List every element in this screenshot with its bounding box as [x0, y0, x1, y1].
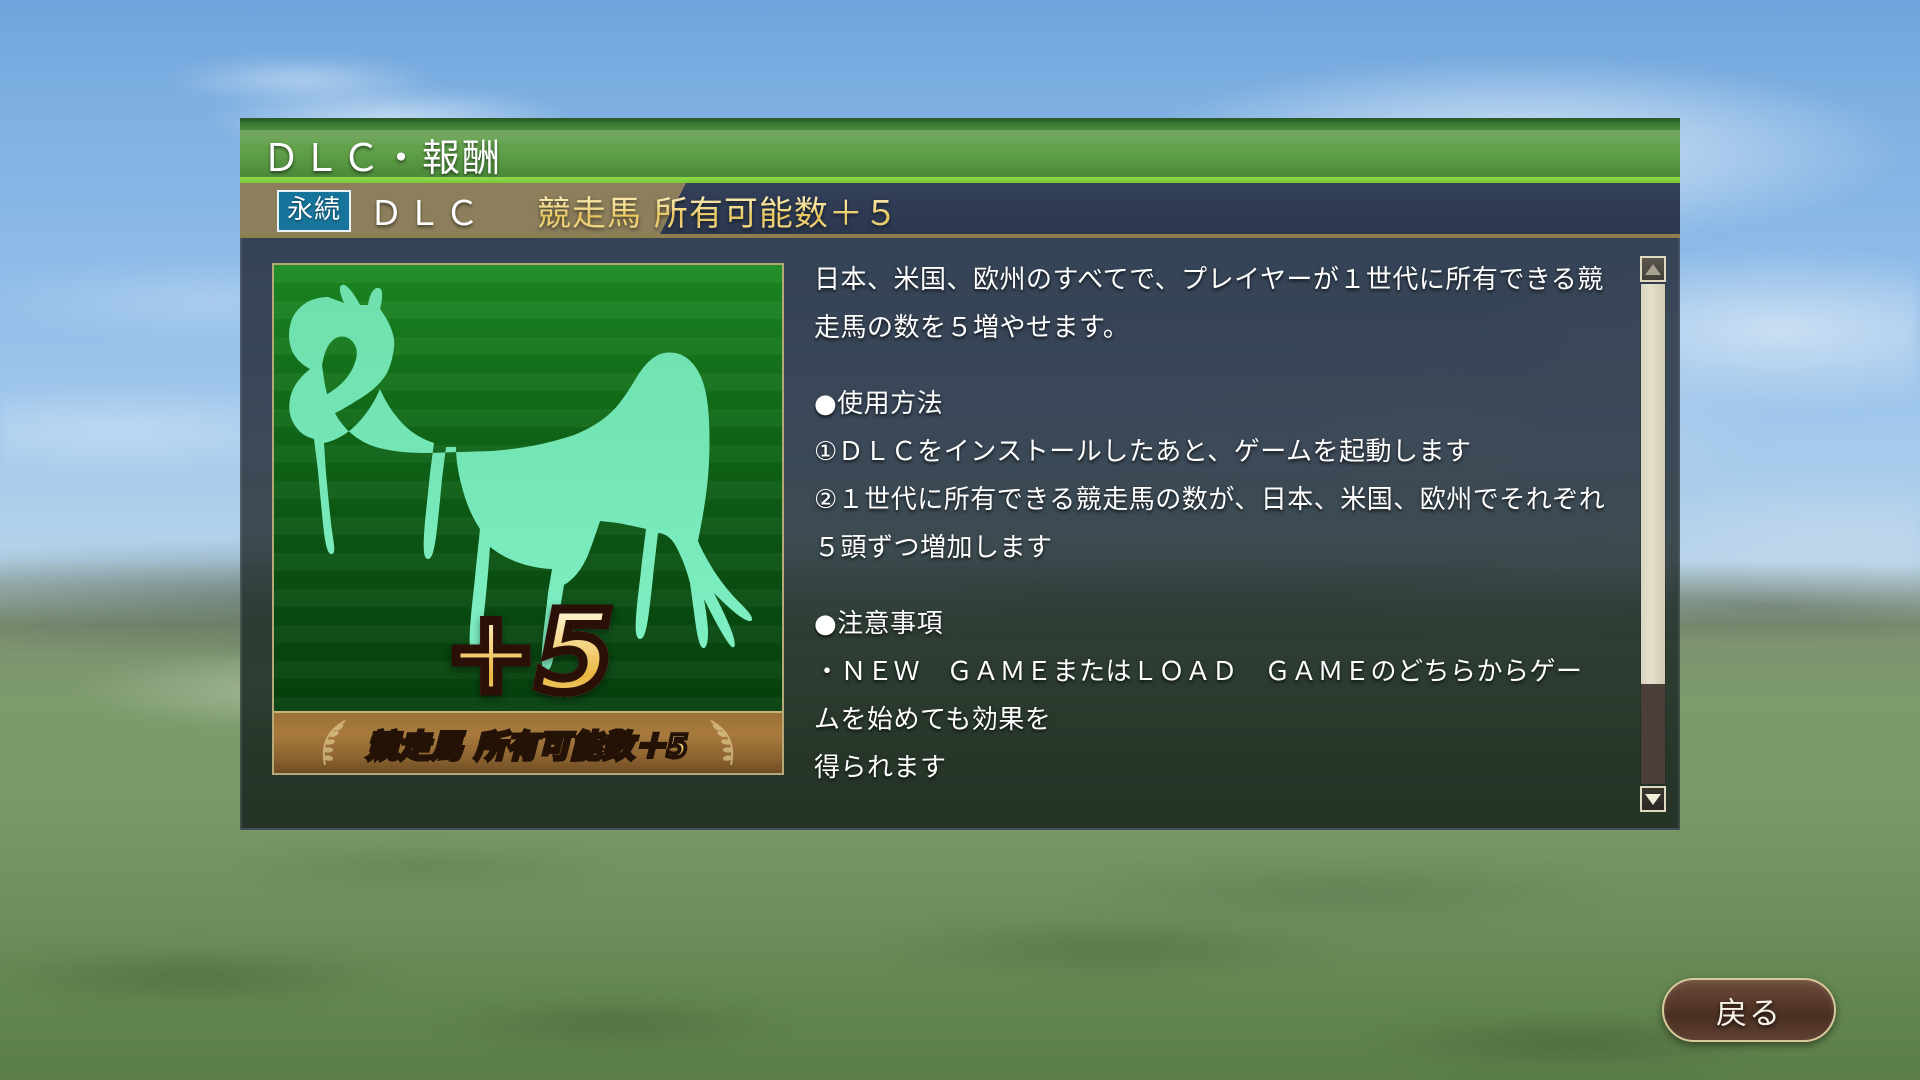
panel-header: ＤＬＣ・報酬 — [240, 118, 1680, 183]
dlc-detail-panel: ＤＬＣ・報酬 永続 ＤＬＣ 競走馬 所有可能数＋５ — [240, 118, 1680, 830]
description-line: ②１世代に所有できる競走馬の数が、日本、米国、欧州でそれぞれ — [814, 476, 1606, 524]
description-line: ・ＮＥＷ ＧＡＭＥまたはＬＯＡＤ ＧＡＭＥのどちらからゲームを始めても効果を — [814, 648, 1606, 744]
description-heading-notes: ●注意事項 — [814, 600, 1606, 648]
triangle-down-icon — [1645, 794, 1661, 805]
description-line: 走馬の数を５増やせます。 — [814, 304, 1606, 352]
scrollbar-thumb[interactable] — [1641, 284, 1665, 684]
panel-body: +5 競走馬 所有可能数＋5 — [240, 238, 1680, 830]
description-heading-usage: ●使用方法 — [814, 380, 1606, 428]
laurel-right-icon — [705, 719, 741, 767]
artwork-caption-band: 競走馬 所有可能数＋5 — [274, 711, 782, 773]
scrollbar-track[interactable] — [1641, 284, 1665, 784]
triangle-up-icon — [1645, 264, 1661, 275]
scroll-down-button[interactable] — [1640, 786, 1666, 812]
plus-five-overlay: +5 — [444, 597, 612, 709]
description-line: 日本、米国、欧州のすべてで、プレイヤーが１世代に所有できる競 — [814, 256, 1606, 304]
item-artwork-card: +5 競走馬 所有可能数＋5 — [272, 263, 784, 775]
item-subheader: 永続 ＤＬＣ 競走馬 所有可能数＋５ — [240, 183, 1680, 238]
description-spacer — [814, 572, 1606, 600]
item-description: 日本、米国、欧州のすべてで、プレイヤーが１世代に所有できる競 走馬の数を５増やせ… — [814, 256, 1654, 812]
artwork-image: +5 — [274, 265, 782, 715]
category-label: ＤＬＣ — [369, 186, 483, 235]
description-line: 得られます — [814, 744, 1606, 792]
description-line: ５頭ずつ増加します — [814, 524, 1606, 572]
page-title: ＤＬＣ・報酬 — [262, 127, 502, 182]
item-title: 競走馬 所有可能数＋５ — [537, 186, 899, 235]
scroll-up-button[interactable] — [1640, 256, 1666, 282]
back-button[interactable]: 戻る — [1662, 978, 1836, 1042]
description-scrollbar[interactable] — [1640, 256, 1666, 812]
description-line: ①ＤＬＣをインストールしたあと、ゲームを起動します — [814, 428, 1606, 476]
description-spacer — [814, 352, 1606, 380]
status-badge: 永続 — [277, 190, 351, 232]
artwork-caption-text: 競走馬 所有可能数＋5 — [367, 721, 689, 766]
back-button-label: 戻る — [1716, 988, 1782, 1033]
laurel-left-icon — [315, 719, 351, 767]
